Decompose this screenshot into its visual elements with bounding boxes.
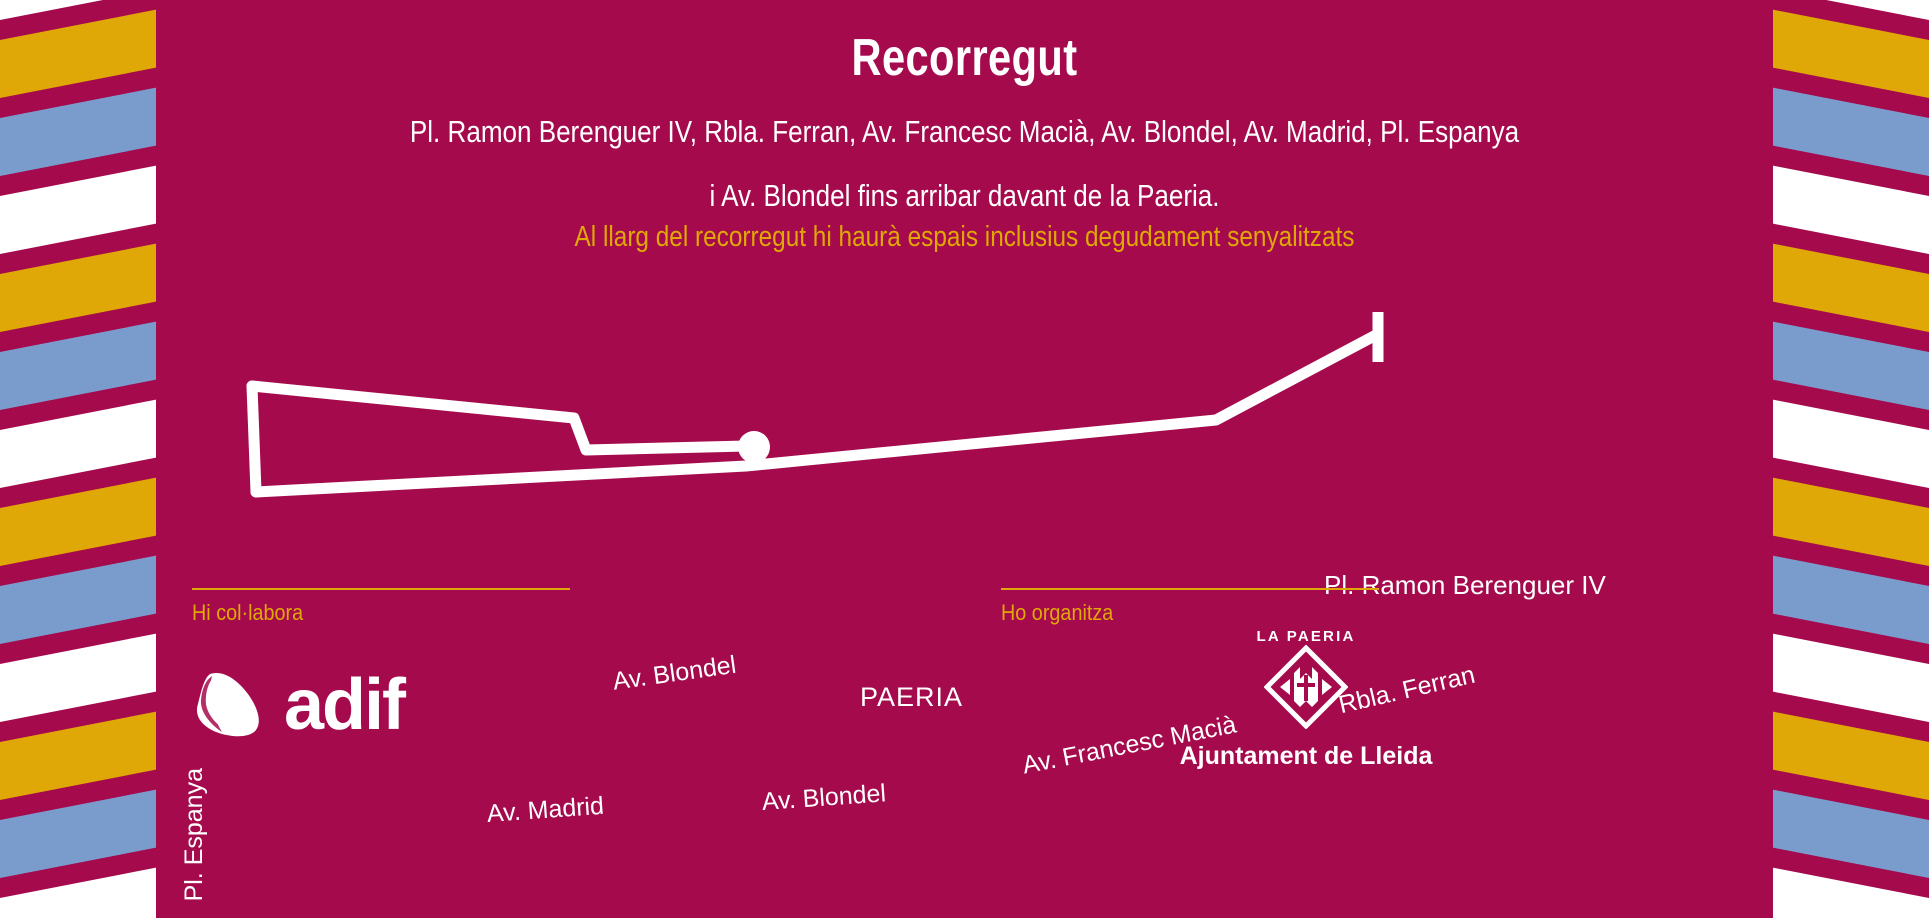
route-segment-espanya-turn [252, 386, 256, 492]
organizer-block: Ho organitza [1001, 588, 1379, 626]
paeria-logo-name: Ajuntament de Lleida [1176, 742, 1436, 771]
decorative-stripe-band-left [0, 0, 156, 918]
route-segment-lower [256, 335, 1376, 492]
footer: Hi col·labora Ho organitza adif LA PAERI… [156, 588, 1773, 918]
paeria-marker-dot [738, 431, 770, 463]
collaborator-caption: Hi col·labora [192, 590, 532, 626]
adif-wordmark: adif [284, 673, 404, 738]
inclusive-spaces-note: Al llarg del recorregut hi haurà espais … [285, 215, 1643, 254]
collaborator-block: Hi col·labora [192, 588, 570, 626]
route-description-line-2: i Av. Blondel fins arribar davant de la … [285, 152, 1643, 216]
paeria-logo: LA PAERIA Ajuntament de Lleida [1176, 628, 1436, 771]
route-segment-upper [252, 386, 746, 450]
route-description-line-1: Pl. Ramon Berenguer IV, Rbla. Ferran, Av… [285, 88, 1643, 152]
route-map: Pl. Espanya Av. Blondel PAERIA Av. Madri… [156, 300, 1773, 620]
paeria-logo-toptext: LA PAERIA [1176, 628, 1436, 645]
adif-mark-icon [192, 668, 270, 742]
adif-logo: adif [192, 668, 404, 742]
header: Recorregut Pl. Ramon Berenguer IV, Rbla.… [156, 0, 1773, 254]
paeria-crest-icon [1264, 716, 1348, 733]
page-title: Recorregut [318, 0, 1612, 88]
decorative-stripe-band-right [1773, 0, 1929, 918]
organizer-caption: Ho organitza [1001, 590, 1341, 626]
